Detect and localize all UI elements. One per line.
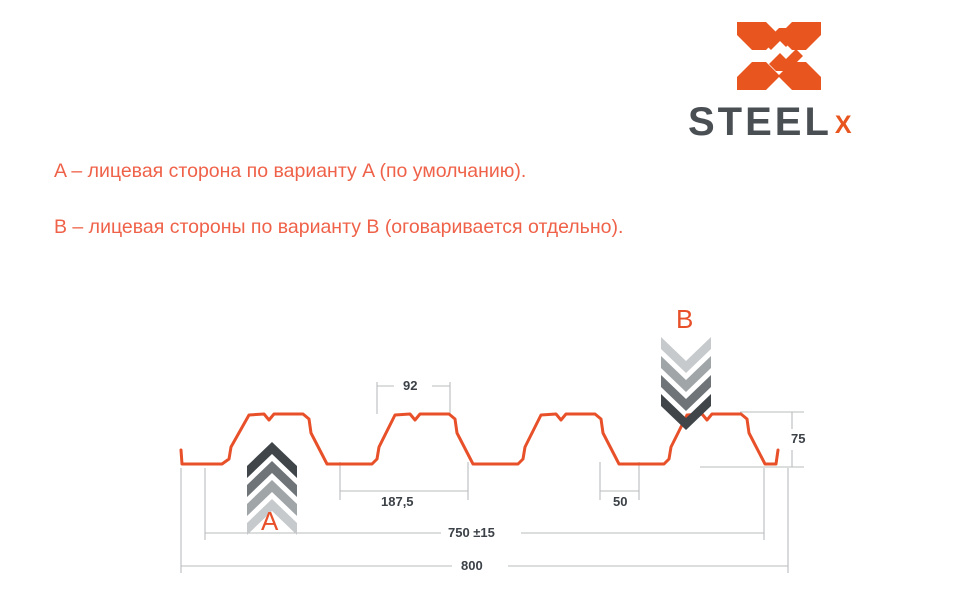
dimension-label-overall-width: 800 xyxy=(456,559,488,572)
dimension-label-valley-width: 50 xyxy=(608,495,632,508)
dimension-label-rib-top-width: 92 xyxy=(398,379,422,392)
dimension-lines xyxy=(181,382,804,573)
variant-a-label: A xyxy=(261,508,278,534)
dimension-label-profile-height: 75 xyxy=(786,432,810,445)
dimension-label-rib-pitch: 187,5 xyxy=(376,495,419,508)
profile-technical-drawing xyxy=(0,0,970,597)
variant-b-label: B xyxy=(676,306,693,332)
dimension-label-working-width: 750 ±15 xyxy=(443,526,500,539)
